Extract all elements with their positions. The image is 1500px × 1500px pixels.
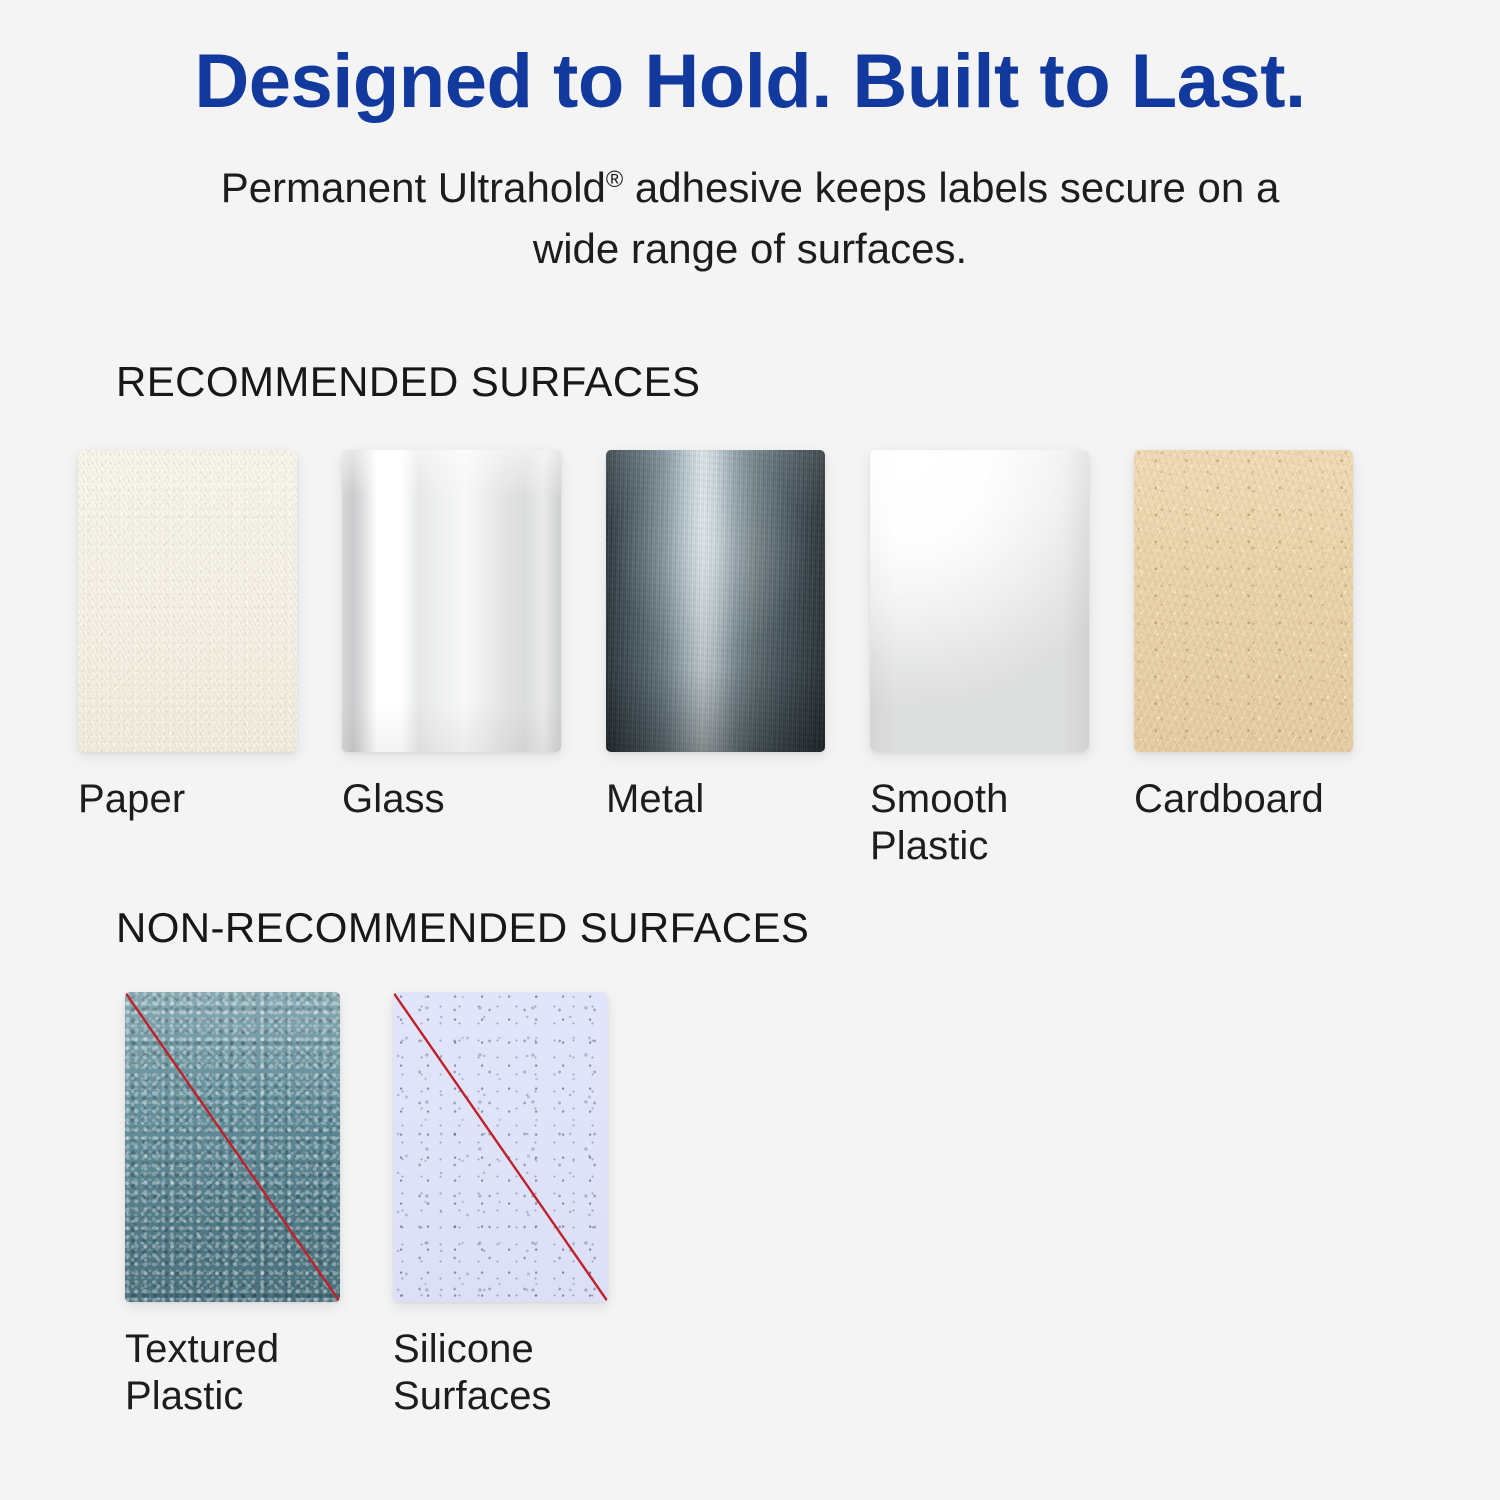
glass-swatch <box>342 450 561 752</box>
glass-texture <box>342 450 561 752</box>
cardboard-swatch <box>1134 450 1353 752</box>
paper-swatch <box>78 450 297 752</box>
surface-label-silicone: Silicone Surfaces <box>393 1326 552 1420</box>
recommended-surfaces-row: Paper Glass Metal Smooth Plastic Cardboa <box>78 450 1398 870</box>
cardboard-texture <box>1134 450 1353 752</box>
surface-item-smooth-plastic: Smooth Plastic <box>870 450 1134 870</box>
paper-texture <box>78 450 297 752</box>
surface-item-silicone: Silicone Surfaces <box>393 992 661 1420</box>
surface-item-glass: Glass <box>342 450 606 823</box>
metal-swatch <box>606 450 825 752</box>
smooth-plastic-texture <box>870 450 1089 752</box>
surface-label-metal: Metal <box>606 776 704 823</box>
surface-label-smooth-plastic: Smooth Plastic <box>870 776 1008 870</box>
surface-label-textured-plastic: Textured Plastic <box>125 1326 279 1420</box>
non-recommended-surfaces-heading: NON-RECOMMENDED SURFACES <box>116 904 809 952</box>
page-title: Designed to Hold. Built to Last. <box>0 44 1500 120</box>
subtitle-text-part1: Permanent Ultrahold <box>221 164 606 211</box>
surface-label-glass: Glass <box>342 776 445 823</box>
silicone-texture <box>393 992 608 1302</box>
subtitle-text-part2: adhesive keeps labels secure on a wide r… <box>533 164 1279 272</box>
recommended-surfaces-heading: RECOMMENDED SURFACES <box>116 358 700 406</box>
surface-label-paper: Paper <box>78 776 185 823</box>
smooth-plastic-swatch <box>870 450 1089 752</box>
textured-plastic-swatch <box>125 992 340 1302</box>
page-subtitle: Permanent Ultrahold® adhesive keeps labe… <box>180 158 1320 280</box>
surface-item-paper: Paper <box>78 450 342 823</box>
surface-item-textured-plastic: Textured Plastic <box>125 992 393 1420</box>
textured-plastic-texture <box>125 992 340 1302</box>
surface-label-cardboard: Cardboard <box>1134 776 1324 823</box>
metal-texture <box>606 450 825 752</box>
non-recommended-surfaces-row: Textured Plastic Silicone Surfaces <box>125 992 661 1420</box>
promo-panel: Designed to Hold. Built to Last. Permane… <box>0 0 1500 1500</box>
surface-item-cardboard: Cardboard <box>1134 450 1398 823</box>
registered-trademark-icon: ® <box>606 166 623 192</box>
surface-item-metal: Metal <box>606 450 870 823</box>
silicone-swatch <box>393 992 608 1302</box>
